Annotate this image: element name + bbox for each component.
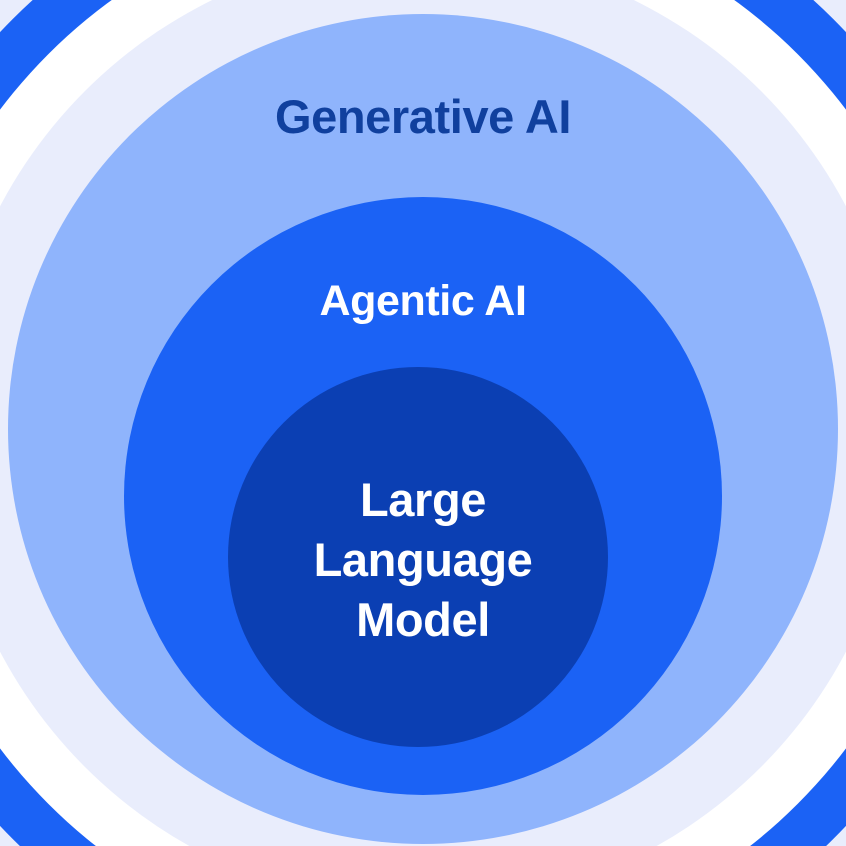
label-large-language-model: Large Language Model <box>0 470 846 650</box>
nested-circles-diagram: Generative AI Agentic AI Large Language … <box>0 0 846 846</box>
label-generative-ai: Generative AI <box>0 92 846 143</box>
label-agentic-ai: Agentic AI <box>0 278 846 324</box>
